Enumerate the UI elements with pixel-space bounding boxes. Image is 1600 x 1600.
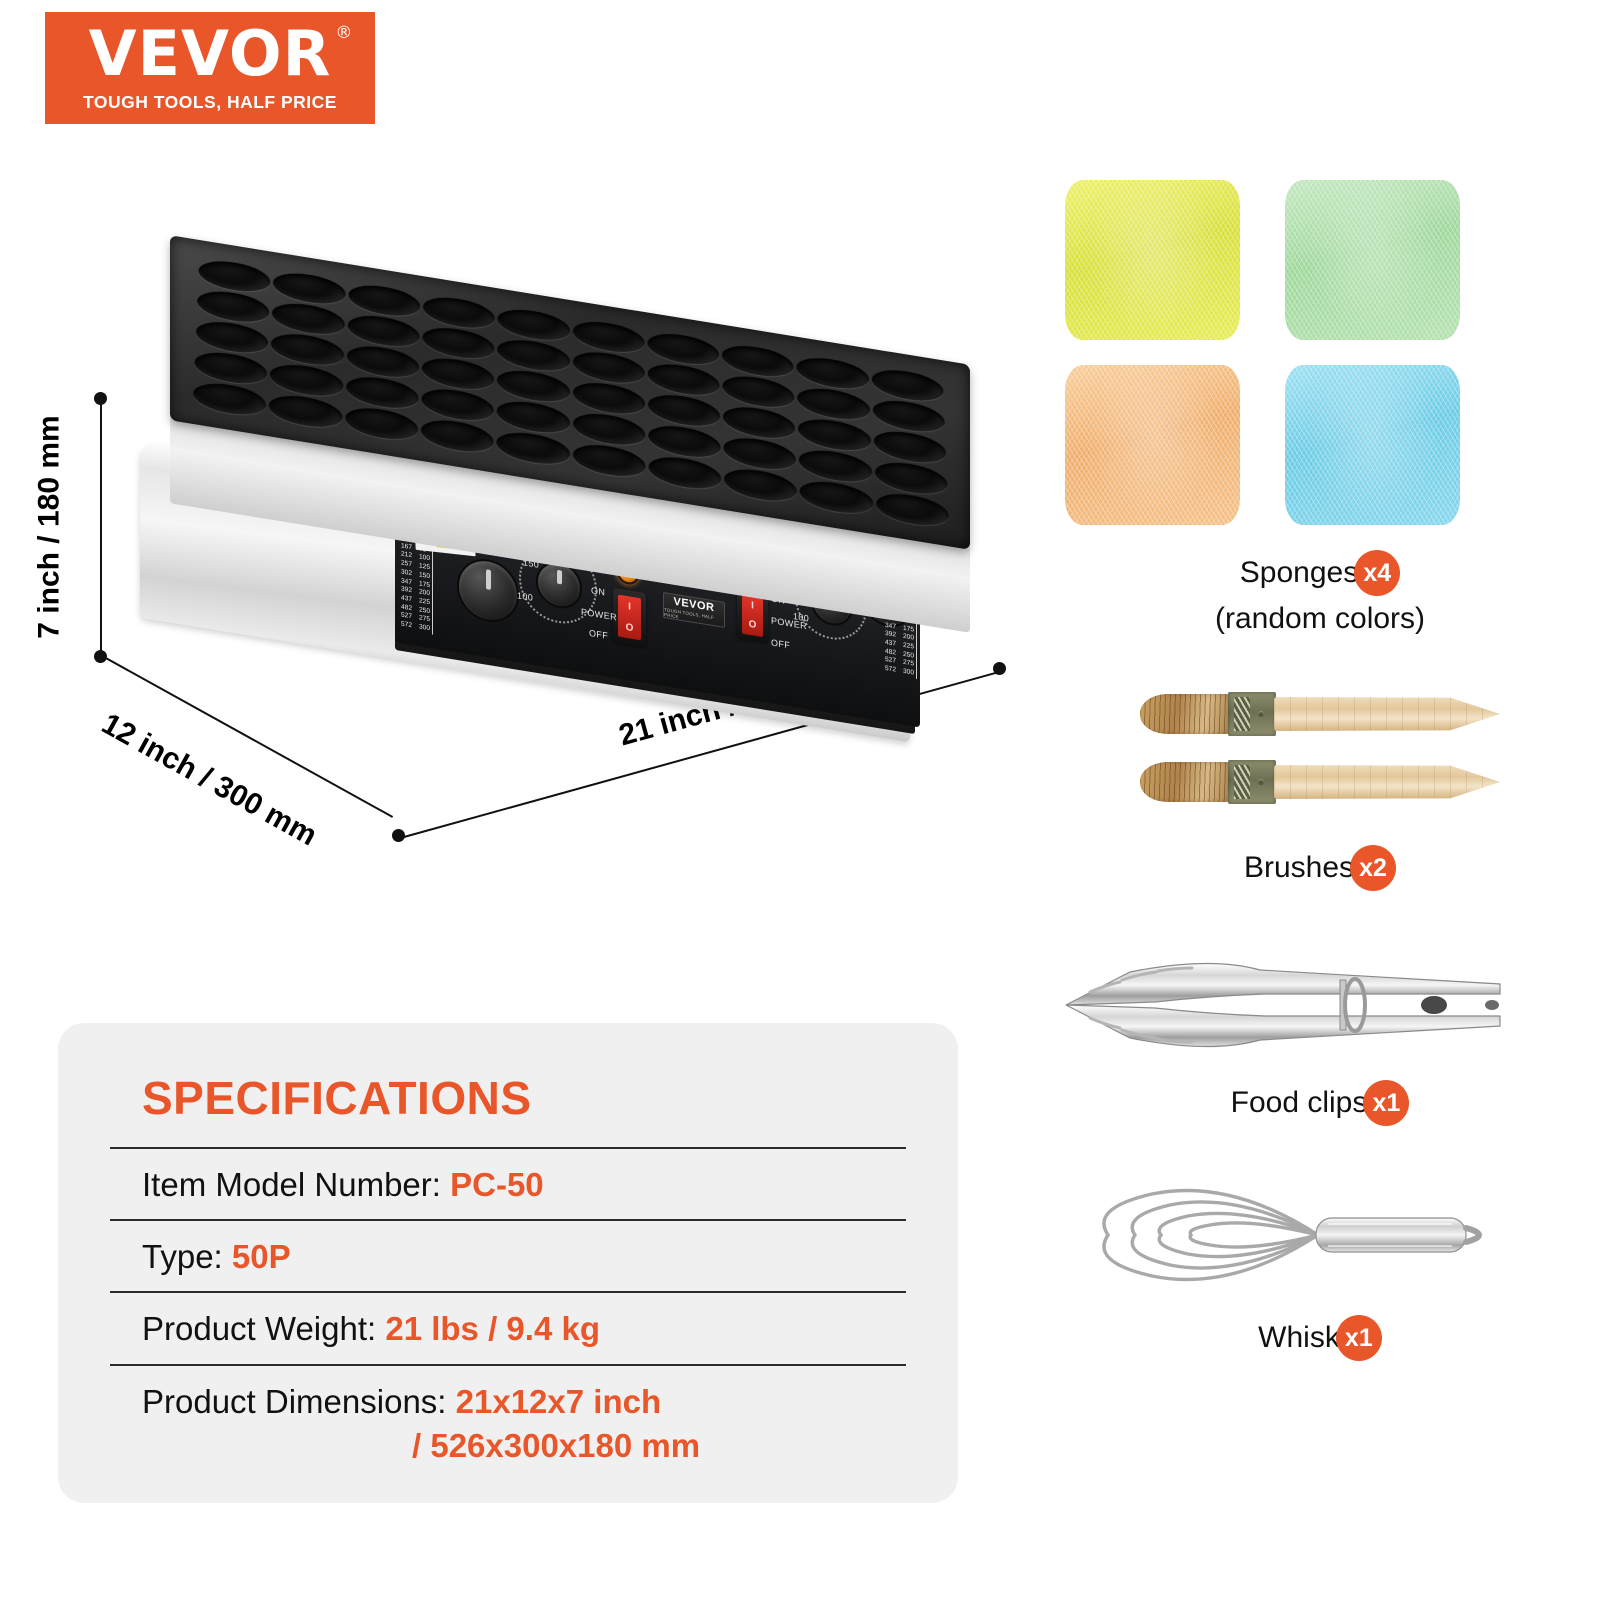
switch-on-mark-left: I [628, 601, 631, 612]
pancake-cavity [871, 366, 944, 405]
pancake-cavity [195, 318, 268, 357]
specifications-panel: SPECIFICATIONS Item Model Number: PC-50 … [58, 1023, 958, 1503]
pancake-cavity [497, 366, 569, 406]
pancake-cavity [422, 354, 495, 394]
product-photo: 7 inch / 180 mm 12 inch / 300 mm 21 inch… [0, 150, 1040, 910]
logo-tagline: TOUGH TOOLS, HALF PRICE [83, 92, 337, 113]
pancake-cavity [346, 342, 419, 382]
switch-label-off-left: OFF [589, 628, 608, 641]
sponges-label: Sponges x4 [1040, 550, 1600, 596]
food-clips-label-wrap: Food clips x1 [1040, 1080, 1600, 1126]
pancake-cavity [497, 336, 569, 375]
switch-off-mark-left: O [626, 622, 634, 634]
pancake-cavity [797, 384, 870, 424]
pancake-cavity [724, 465, 797, 505]
brushes-name: Brushes [1244, 851, 1354, 885]
specifications-heading: SPECIFICATIONS [142, 1071, 906, 1125]
pancake-cavity [197, 287, 270, 326]
pancake-cavity [572, 317, 644, 356]
food-clips-icon [1060, 950, 1510, 1060]
sponges-qty-badge: x4 [1354, 550, 1400, 596]
whisk-icon [1060, 1170, 1530, 1300]
registered-mark-icon: ® [335, 25, 353, 42]
pancake-cavity [573, 440, 646, 480]
spec-label-dimensions: Product Dimensions: [142, 1383, 446, 1420]
thermostat-scale-left-100: 100 [517, 590, 533, 603]
brush-item-2 [1140, 758, 1500, 804]
product-spec-page: VEVOR ® TOUGH TOOLS, HALF PRICE 7 inch /… [0, 0, 1600, 1600]
pancake-cavity [198, 257, 271, 296]
pancake-cavity [345, 404, 418, 444]
food-clips-name: Food clips [1231, 1086, 1368, 1120]
pancake-cavity [647, 360, 719, 399]
pancake-cavity [875, 490, 949, 530]
pancake-cavity [194, 348, 268, 388]
spec-row-weight: Product Weight: 21 lbs / 9.4 kg [110, 1291, 906, 1363]
pancake-cavity [798, 415, 871, 455]
spec-row-dimensions: Product Dimensions: 21x12x7 inch / 526x3… [110, 1364, 906, 1478]
pancake-cavity [193, 379, 267, 419]
switch-off-mark-right: O [749, 619, 757, 631]
sponge-orange [1065, 365, 1240, 525]
pancake-cavity [800, 477, 874, 517]
sponges-note-wrap: (random colors) [1040, 602, 1600, 636]
pancake-cavity [722, 372, 795, 411]
brush-item-1 [1140, 690, 1500, 736]
logo-word-text: VEVOR [89, 17, 332, 90]
pancake-cavity [796, 354, 869, 393]
pancake-cavity [874, 458, 948, 498]
brush-bristles-icon [1140, 762, 1232, 802]
brush-bristles-icon [1140, 694, 1232, 734]
logo-wordmark: VEVOR ® [89, 23, 332, 85]
pancake-maker-machine: Comparison table °F 12216721225730234739… [95, 205, 995, 825]
brushes-label: Brushes x2 [1040, 845, 1600, 891]
pancake-cavity [723, 434, 796, 474]
whisk-label: Whisk x1 [1040, 1315, 1600, 1361]
pancake-cavity [421, 385, 494, 425]
switch-on-mark-right: I [751, 600, 754, 611]
spec-label-weight: Product Weight: [142, 1310, 376, 1347]
power-switch-left[interactable]: I O [613, 588, 646, 647]
sponge-green [1285, 180, 1460, 340]
sponges-note: (random colors) [1215, 602, 1425, 636]
food-clips-qty-badge: x1 [1363, 1080, 1409, 1126]
power-switch-rocker-right[interactable]: I O [742, 594, 763, 636]
pancake-cavity [648, 422, 721, 462]
brushes-qty-badge: x2 [1350, 845, 1396, 891]
pancake-cavity [272, 299, 345, 338]
food-clips-label: Food clips x1 [1040, 1080, 1600, 1126]
spec-value-dimensions: 21x12x7 inch [456, 1383, 661, 1420]
pancake-cavity [648, 453, 721, 493]
pancake-cavity [423, 293, 495, 332]
sponge-yellow [1065, 180, 1240, 340]
spec-row-type: Type: 50P [110, 1219, 906, 1291]
pancake-cavity [348, 281, 420, 320]
pancake-cavity [421, 416, 494, 456]
spec-value-model: PC-50 [450, 1166, 544, 1203]
brush-ferrule [1228, 760, 1276, 804]
pancake-cavity [572, 378, 644, 418]
whisk-qty-badge: x1 [1336, 1315, 1382, 1361]
pancake-cavity [573, 409, 646, 449]
spec-value-dimensions-cont: / 526x300x180 mm [142, 1424, 906, 1468]
pancake-cavity [497, 397, 570, 437]
pancake-cavity [572, 348, 644, 387]
pancake-cavity [498, 305, 570, 344]
spec-row-model: Item Model Number: PC-50 [110, 1147, 906, 1219]
brush-handle [1274, 765, 1500, 799]
pancake-cavity [497, 428, 570, 468]
spec-label-type: Type: [142, 1238, 223, 1275]
accessories-column: Sponges x4 (random colors) [1040, 150, 1600, 1430]
switch-label-power-left: POWER [581, 607, 617, 623]
pancake-cavity [269, 391, 343, 431]
pancake-cavity [872, 396, 945, 436]
sponge-blue [1285, 365, 1460, 525]
whisk-name: Whisk [1258, 1321, 1340, 1355]
spec-value-type: 50P [232, 1238, 291, 1275]
cooking-head [170, 300, 970, 590]
brush-ferrule [1228, 692, 1276, 736]
vevor-logo: VEVOR ® TOUGH TOOLS, HALF PRICE [45, 12, 375, 124]
pancake-cavity [273, 269, 346, 308]
power-switch-rocker-left[interactable]: I O [618, 595, 640, 641]
sponges-label-wrap: Sponges x4 (random colors) [1040, 550, 1600, 636]
pancake-cavity [723, 403, 796, 443]
whisk-label-wrap: Whisk x1 [1040, 1315, 1600, 1361]
panel-nameplate: VEVOR TOUGH TOOLS, HALF PRICE [663, 592, 725, 628]
pancake-cavity [345, 373, 418, 413]
brush-handle [1274, 697, 1500, 731]
pancake-cavity [648, 391, 721, 431]
brushes-label-wrap: Brushes x2 [1040, 845, 1600, 891]
sponges-name: Sponges [1240, 556, 1358, 590]
pancake-cavity [722, 342, 794, 381]
pancake-cavity [799, 446, 872, 486]
switch-label-off-right: OFF [771, 637, 790, 650]
pancake-cavity [270, 360, 343, 400]
spec-label-model: Item Model Number: [142, 1166, 441, 1203]
height-dimension-label: 7 inch / 180 mm [33, 415, 67, 638]
pancake-cavity [347, 311, 420, 350]
pancake-cavity [873, 427, 946, 467]
pancake-cavity [271, 330, 344, 369]
pancake-cavity [422, 324, 494, 363]
spec-value-weight: 21 lbs / 9.4 kg [385, 1310, 600, 1347]
pancake-cavity [647, 329, 719, 368]
